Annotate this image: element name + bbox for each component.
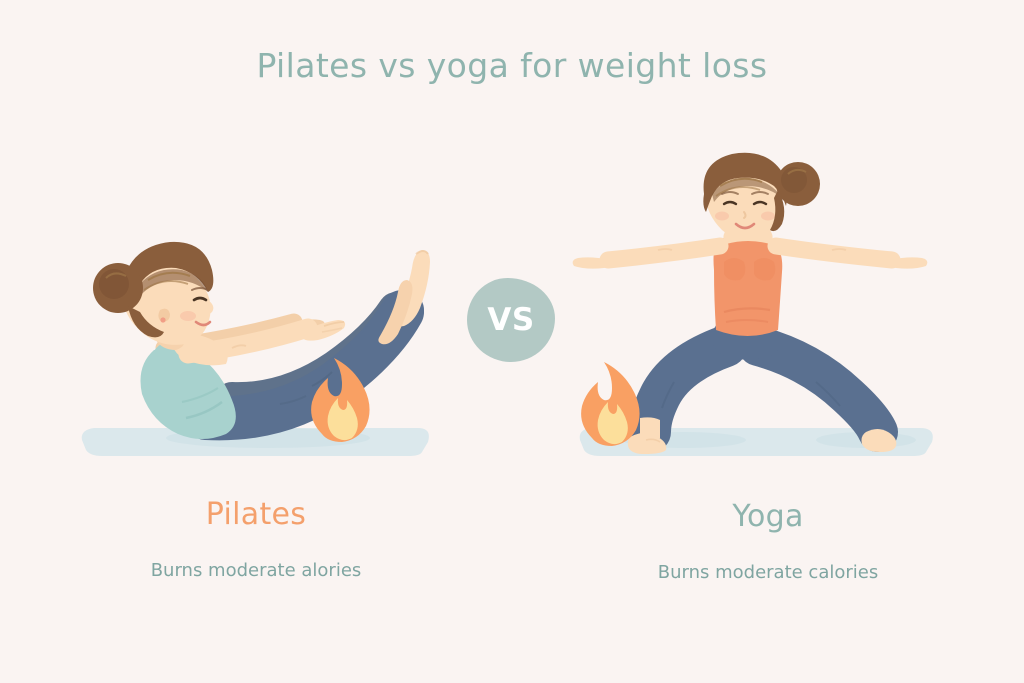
caption-pilates: Burns moderate alories — [36, 560, 476, 581]
page-title: Pilates vs yoga for weight loss — [0, 46, 1024, 85]
flame-icon-yoga — [581, 362, 639, 446]
panel-pilates — [36, 150, 476, 470]
label-yoga: Yoga — [548, 499, 988, 534]
yoga-illustration — [548, 150, 988, 470]
yoga-right-arm — [776, 246, 927, 269]
vs-badge-label: VS — [487, 305, 534, 336]
label-pilates: Pilates — [36, 497, 476, 532]
yoga-left-arm — [573, 246, 720, 269]
vs-badge: VS — [467, 278, 555, 362]
caption-yoga: Burns moderate calories — [548, 562, 988, 583]
panel-yoga — [548, 150, 988, 470]
infographic-canvas: Pilates vs yoga for weight loss — [0, 0, 1024, 683]
pilates-illustration — [36, 150, 476, 470]
